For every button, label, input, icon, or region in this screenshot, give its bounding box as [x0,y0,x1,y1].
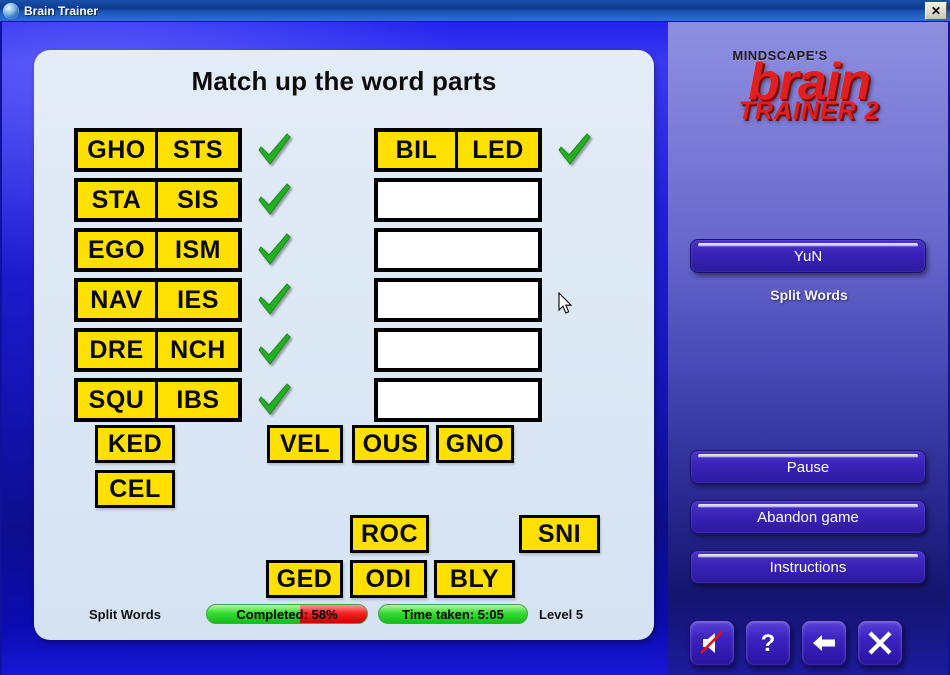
word-tile[interactable]: GNO [436,425,514,463]
game-panel: Match up the word parts GHOSTSSTASISEGOI… [34,50,654,640]
current-mode-label: Split Words [668,287,950,303]
word-slot-filled[interactable]: EGOISM [74,228,242,272]
correct-tick-icon [256,180,292,220]
page-title: Match up the word parts [34,66,654,97]
word-part-second[interactable]: IBS [158,382,238,418]
close-x-icon[interactable] [857,620,903,666]
sidebar: MINDSCAPE'S brain TRAINER 2 YuN Split Wo… [668,22,950,675]
word-part-second[interactable]: SIS [158,182,238,218]
word-tile[interactable]: ODI [350,560,427,598]
word-part-first[interactable]: DRE [78,332,158,368]
time-taken-label: Time taken: 5:05 [402,607,504,622]
application-window: Brain Trainer ✕ Match up the word parts … [0,0,950,675]
word-part-second[interactable]: STS [158,132,238,168]
status-bar: Split Words Completed: 58% Time taken: 5… [34,604,654,626]
word-part-second[interactable]: NCH [158,332,238,368]
back-arrow-icon[interactable] [801,620,847,666]
word-slot-filled[interactable]: DRENCH [74,328,242,372]
word-tile[interactable]: GED [266,560,343,598]
completed-progress: Completed: 58% [206,604,368,624]
level-indicator: Level 5 [539,607,583,622]
word-slot-filled[interactable]: BILLED [374,128,542,172]
word-part-first[interactable]: STA [78,182,158,218]
window-close-button[interactable]: ✕ [925,2,947,20]
instructions-button[interactable]: Instructions [690,550,926,584]
word-tile[interactable]: CEL [95,470,175,508]
correct-tick-icon [556,130,592,170]
logo-subtitle: TRAINER 2 [668,97,950,126]
word-tile[interactable]: SNI [519,515,600,553]
word-part-first[interactable]: GHO [78,132,158,168]
correct-tick-icon [256,230,292,270]
brand-logo: MINDSCAPE'S brain TRAINER 2 [668,48,950,126]
user-profile-button[interactable]: YuN [690,239,926,273]
icon-button-row: ? [689,620,929,666]
correct-tick-icon [256,330,292,370]
word-slot-empty[interactable] [374,378,542,422]
mute-icon[interactable] [689,620,735,666]
game-background: Match up the word parts GHOSTSSTASISEGOI… [0,22,950,675]
word-part-second[interactable]: ISM [158,232,238,268]
help-icon[interactable]: ? [745,620,791,666]
word-slot-empty[interactable] [374,278,542,322]
word-tile[interactable]: ROC [350,515,429,553]
word-tile[interactable]: OUS [352,425,429,463]
svg-text:?: ? [761,630,776,657]
word-slot-filled[interactable]: GHOSTS [74,128,242,172]
word-tile[interactable]: KED [95,425,175,463]
abandon-game-button[interactable]: Abandon game [690,500,926,534]
word-slot-filled[interactable]: NAVIES [74,278,242,322]
globe-icon [3,3,19,19]
correct-tick-icon [256,280,292,320]
word-slot-empty[interactable] [374,228,542,272]
word-part-first[interactable]: BIL [378,132,458,168]
window-titlebar: Brain Trainer ✕ [0,0,950,22]
word-tile[interactable]: VEL [267,425,343,463]
correct-tick-icon [256,130,292,170]
pause-button[interactable]: Pause [690,450,926,484]
word-slot-empty[interactable] [374,328,542,372]
window-title: Brain Trainer [24,4,98,18]
correct-tick-icon [256,380,292,420]
word-slot-empty[interactable] [374,178,542,222]
status-game-name: Split Words [89,607,161,622]
time-taken-pill: Time taken: 5:05 [378,604,528,624]
word-part-first[interactable]: EGO [78,232,158,268]
word-slot-filled[interactable]: SQUIBS [74,378,242,422]
word-tile[interactable]: BLY [434,560,515,598]
completed-progress-label: Completed: 58% [236,607,337,622]
word-part-second[interactable]: LED [458,132,538,168]
word-part-first[interactable]: SQU [78,382,158,418]
word-slot-filled[interactable]: STASIS [74,178,242,222]
word-part-first[interactable]: NAV [78,282,158,318]
word-part-second[interactable]: IES [158,282,238,318]
